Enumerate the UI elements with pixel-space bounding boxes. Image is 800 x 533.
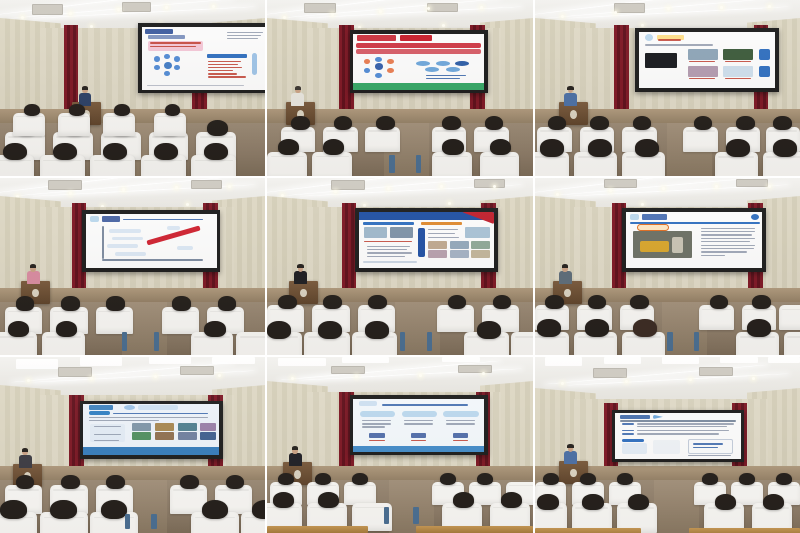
- photo-cell-2[interactable]: [267, 0, 532, 176]
- lecture-hall-scene-3: [535, 0, 800, 176]
- projection-screen-2: [350, 30, 488, 93]
- photo-cell-6[interactable]: [535, 178, 800, 354]
- slide-title-left-2: [357, 35, 396, 41]
- speaker-7: [19, 448, 32, 467]
- photo-cell-4[interactable]: [0, 178, 265, 354]
- projection-screen-4: [82, 210, 220, 272]
- photo-cell-5[interactable]: [267, 178, 532, 354]
- projection-screen-8: [350, 395, 488, 455]
- projection-screen-9: [612, 410, 745, 463]
- slide-title-9: [620, 415, 650, 420]
- photo-cell-1[interactable]: [0, 0, 265, 176]
- slide-footer-7: [83, 447, 219, 455]
- projection-screen-5: [355, 208, 498, 271]
- projection-screen-7: [80, 401, 223, 459]
- slide-panel-title-1: [207, 54, 247, 58]
- slide-title-1: [145, 29, 173, 33]
- slide-card-2-header-8: [402, 411, 437, 417]
- speaker-3: [564, 86, 577, 105]
- slide-title-6: [642, 214, 666, 220]
- photo-cell-3[interactable]: [535, 0, 800, 176]
- curtain-left: [64, 25, 79, 113]
- lecture-hall-scene-7: [0, 357, 265, 533]
- slide-title-4: [102, 216, 120, 221]
- projection-screen-3: [635, 28, 778, 91]
- photo-contact-sheet: [0, 0, 800, 533]
- projection-screen-1: [138, 23, 265, 94]
- speaker-9: [564, 445, 577, 464]
- speaker-1: [78, 86, 91, 105]
- lecture-hall-scene-5: [267, 178, 532, 354]
- speaker-8: [289, 447, 302, 466]
- photo-cell-8[interactable]: [267, 357, 532, 533]
- lecture-hall-scene-8: [267, 357, 532, 533]
- slide-footer-8: [353, 446, 484, 451]
- slide-tag-6: [637, 224, 669, 231]
- lecture-hall-scene-6: [535, 178, 800, 354]
- lecture-hall-scene-2: [267, 0, 532, 176]
- speaker-5: [294, 265, 307, 284]
- lecture-hall-scene-9: [535, 357, 800, 533]
- slide-footer-2: [353, 83, 484, 90]
- slide-title-right-2: [400, 35, 431, 41]
- projection-screen-6: [622, 208, 765, 271]
- slide-card-3-header-8: [443, 411, 478, 417]
- lecture-hall-scene-1: [0, 0, 265, 176]
- photo-cell-9[interactable]: [535, 357, 800, 533]
- speaker-2: [291, 86, 304, 105]
- speaker-6: [559, 265, 572, 284]
- speaker-4: [27, 265, 40, 284]
- slide-card-1-header-8: [360, 411, 395, 417]
- lecture-hall-scene-4: [0, 178, 265, 354]
- photo-cell-7[interactable]: [0, 357, 265, 533]
- slide-title-7: [89, 405, 113, 410]
